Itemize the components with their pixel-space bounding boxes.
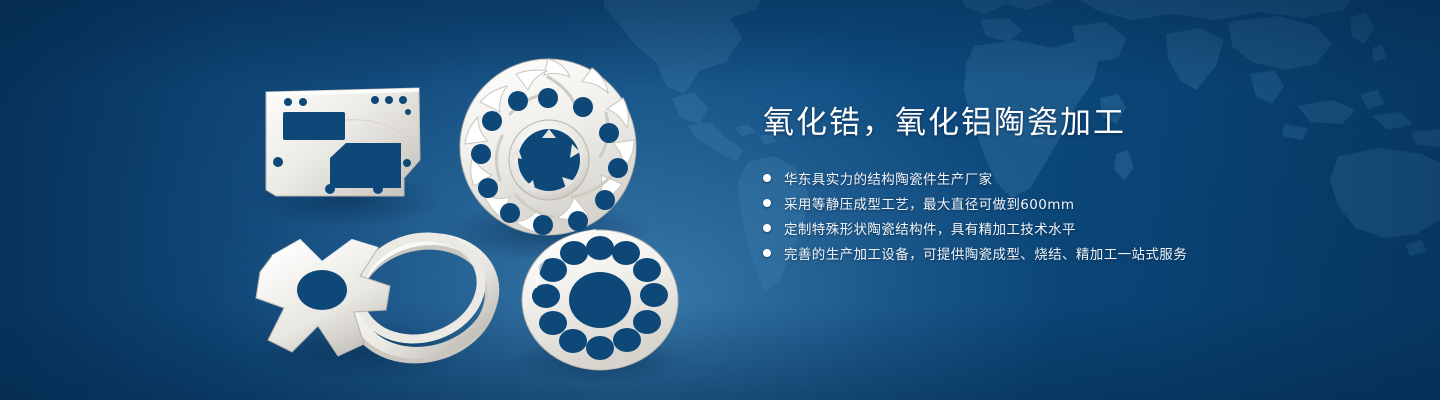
list-item-label: 采用等静压成型工艺，最大直径可做到600mm [784,193,1074,213]
list-item: 完善的生产加工设备，可提供陶瓷成型、烧结、精加工一站式服务 [763,242,1323,263]
bullet-dot-icon [763,249,771,257]
bullet-dot-icon [763,174,771,182]
list-item: 华东具实力的结构陶瓷件生产厂家 [763,167,1323,188]
ceramic-products-image [0,0,740,400]
bullet-dot-icon [763,199,771,207]
banner-copy-block: 氧化锆，氧化铝陶瓷加工 华东具实力的结构陶瓷件生产厂家 采用等静压成型工艺，最大… [763,108,1323,267]
ceramic-perforated-disc [522,230,678,370]
ceramic-machined-plate [266,88,420,196]
list-item: 定制特殊形状陶瓷结构件，具有精加工技术水平 [763,217,1323,238]
list-item: 采用等静压成型工艺，最大直径可做到600mm [763,192,1323,213]
ceramic-products-hero-banner: 氧化锆，氧化铝陶瓷加工 华东具实力的结构陶瓷件生产厂家 采用等静压成型工艺，最大… [0,0,1440,400]
feature-list: 华东具实力的结构陶瓷件生产厂家 采用等静压成型工艺，最大直径可做到600mm 定… [763,167,1323,263]
ceramic-vaned-impeller [460,59,636,235]
list-item-label: 完善的生产加工设备，可提供陶瓷成型、烧结、精加工一站式服务 [784,243,1187,263]
list-item-label: 定制特殊形状陶瓷结构件，具有精加工技术水平 [784,218,1076,238]
bullet-dot-icon [763,224,771,232]
page-title: 氧化锆，氧化铝陶瓷加工 [763,108,1323,139]
list-item-label: 华东具实力的结构陶瓷件生产厂家 [784,168,993,188]
